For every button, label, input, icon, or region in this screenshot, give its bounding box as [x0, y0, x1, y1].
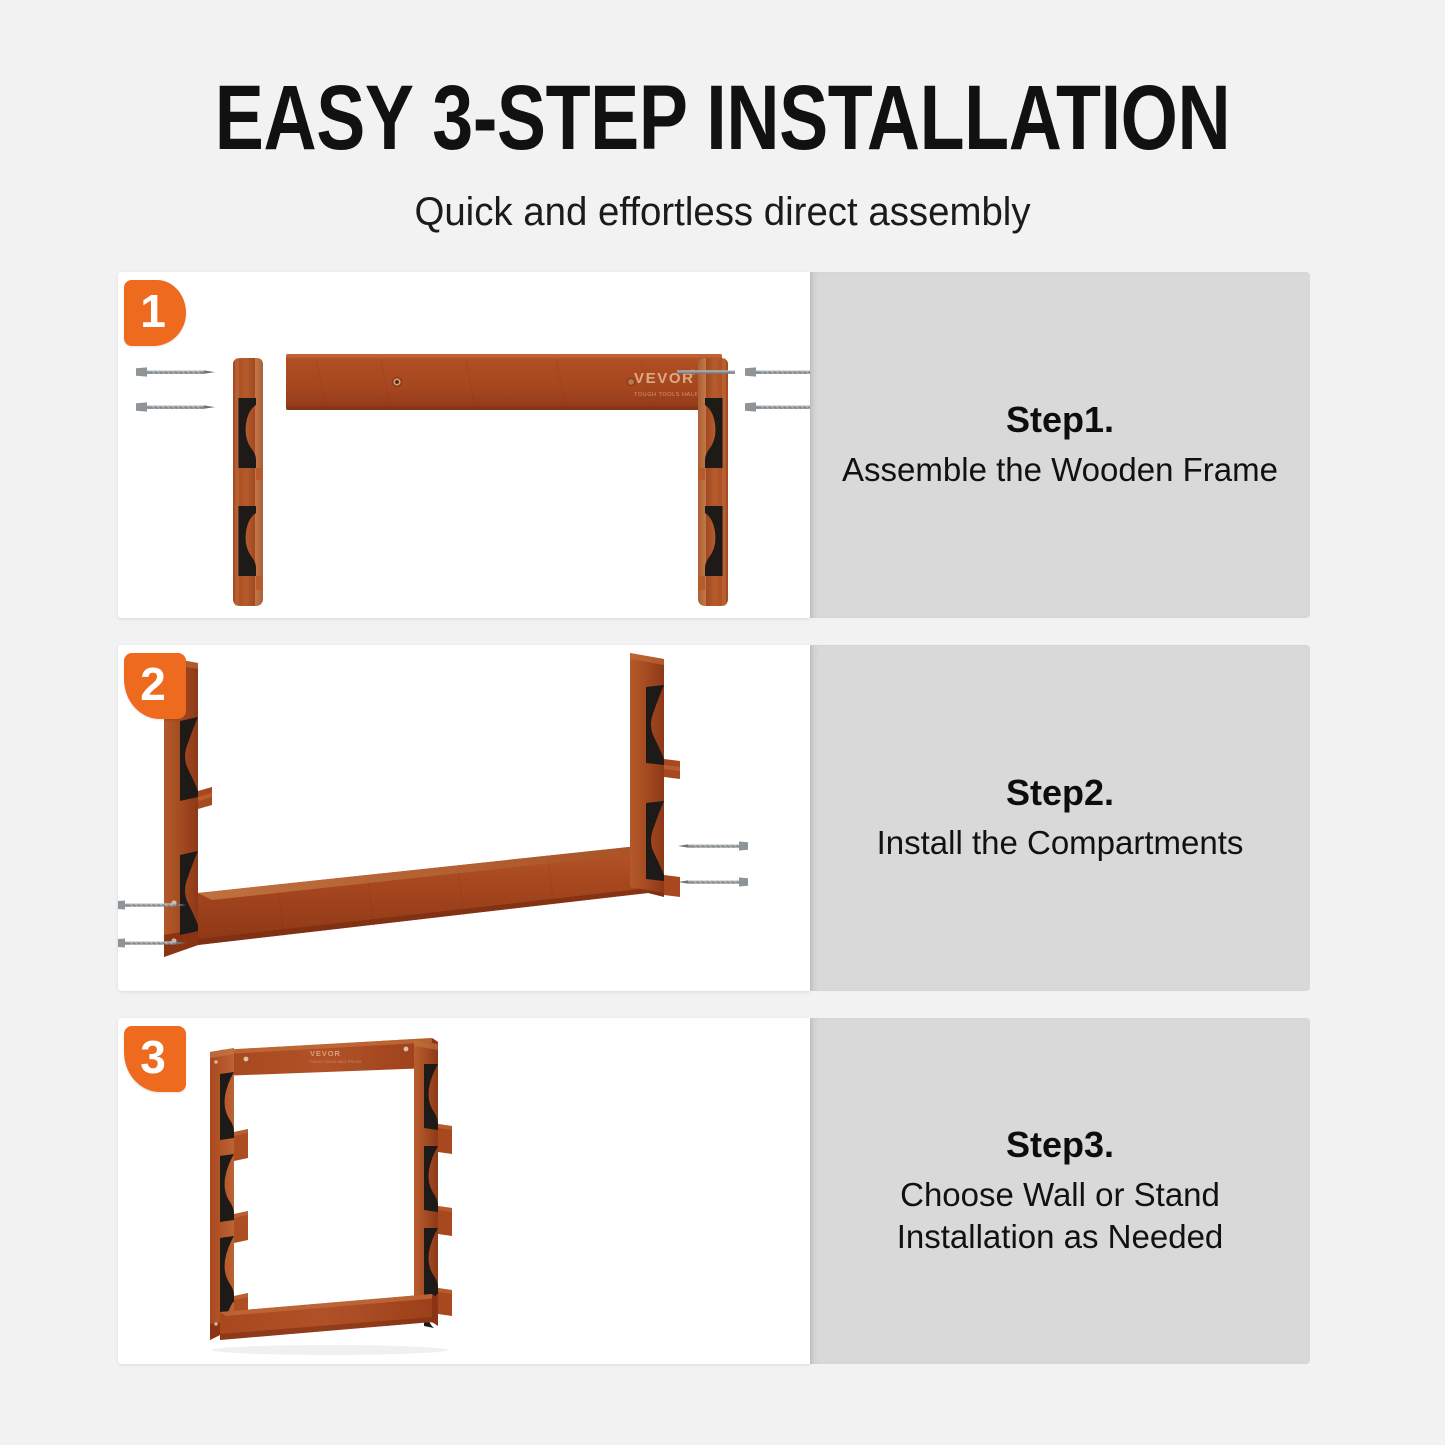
step-1-text-panel: Step1. Assemble the Wooden Frame [810, 272, 1310, 618]
step-number-3: 3 [140, 1034, 166, 1080]
screw-hole [244, 1057, 249, 1062]
screw-icon [678, 878, 748, 887]
page-title: EASY 3-STEP INSTALLATION [145, 0, 1301, 164]
step-number-2: 2 [140, 661, 166, 707]
wooden-frame-parts-art: VEVOR ® TOUGH TOOLS HALF PRICES [118, 272, 810, 618]
step-2-heading: Step2. [828, 772, 1292, 814]
step-3-description-line-2: Installation as Needed [828, 1216, 1292, 1258]
step-2-description: Install the Compartments [828, 822, 1292, 864]
screw-hole [214, 1060, 218, 1064]
screw-icon [745, 402, 810, 411]
assembled-gun-rack: VEVOR TOUGH TOOLS HALF PRICES [210, 1038, 452, 1355]
brand-tagline: TOUGH TOOLS HALF PRICES [310, 1060, 362, 1064]
header: EASY 3-STEP INSTALLATION Quick and effor… [0, 0, 1445, 234]
right-post [414, 1040, 452, 1328]
page-subtitle: Quick and effortless direct assembly [29, 164, 1416, 234]
left-post [210, 1048, 248, 1340]
step-1-illustration: VEVOR ® TOUGH TOOLS HALF PRICES [118, 272, 810, 618]
step-row-3: VEVOR TOUGH TOOLS HALF PRICES [118, 1018, 1310, 1364]
step-row-2: 2 Step2. Install the Compartments [118, 645, 1310, 991]
step-3-heading: Step3. [828, 1124, 1292, 1166]
step-3-description-line-1: Choose Wall or Stand [828, 1174, 1292, 1216]
right-post [698, 358, 728, 606]
top-rail: VEVOR TOUGH TOOLS HALF PRICES [220, 1038, 438, 1076]
brand-logo: VEVOR [310, 1049, 341, 1058]
bottom-rail [220, 1294, 438, 1340]
step-2-illustration: 2 [118, 645, 810, 991]
step-number-1: 1 [140, 288, 166, 334]
step-3-text-panel: Step3. Choose Wall or Stand Installation… [810, 1018, 1310, 1364]
infographic-page: EASY 3-STEP INSTALLATION Quick and effor… [0, 0, 1445, 1445]
screw-hole [214, 1322, 218, 1326]
screw-hole [392, 377, 402, 387]
step-2-text-panel: Step2. Install the Compartments [810, 645, 1310, 991]
top-rail: VEVOR ® TOUGH TOOLS HALF PRICES [286, 354, 724, 410]
step-1-heading: Step1. [828, 399, 1292, 441]
step-1-description: Assemble the Wooden Frame [828, 449, 1292, 491]
screw-hole [404, 1047, 409, 1052]
screw-icon [136, 402, 215, 411]
assembled-rack-art: VEVOR TOUGH TOOLS HALF PRICES [118, 1018, 810, 1364]
screw-icon [678, 842, 748, 851]
left-post [233, 358, 263, 606]
bottom-rail [198, 845, 664, 945]
screw-icon [136, 367, 215, 376]
step-row-1: VEVOR ® TOUGH TOOLS HALF PRICES [118, 272, 1310, 618]
compartments-install-art [118, 645, 810, 991]
step-3-illustration: VEVOR TOUGH TOOLS HALF PRICES [118, 1018, 810, 1364]
right-post [630, 653, 680, 897]
